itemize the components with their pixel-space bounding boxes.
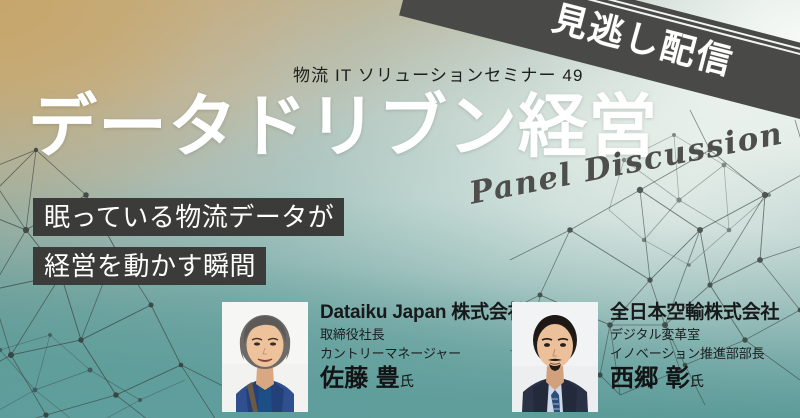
speaker-info-2: 全日本空輸株式会社 デジタル変革室 イノベーション推進部部長 西郷 彰氏 (610, 302, 779, 391)
speaker-company: Dataiku Japan 株式会社 (320, 303, 527, 324)
speaker-name-row: 西郷 彰氏 (610, 366, 779, 391)
speaker-name: 西郷 彰 (610, 365, 690, 392)
speaker-info-1: Dataiku Japan 株式会社 取締役社長 カントリーマネージャー 佐藤 … (320, 302, 527, 391)
speaker-name-suffix: 氏 (400, 373, 414, 389)
speaker-card-1: Dataiku Japan 株式会社 取締役社長 カントリーマネージャー 佐藤 … (222, 302, 527, 412)
speaker-portrait-saigo (512, 302, 598, 412)
speaker-role-line-1: 取締役社長 (320, 327, 527, 343)
speaker-company: 全日本空輸株式会社 (610, 303, 779, 324)
page-title: データドリブン経営 (28, 92, 658, 161)
speaker-portrait-sato (222, 302, 308, 412)
speaker-role-line-2: イノベーション推進部部長 (610, 346, 779, 362)
speaker-name: 佐藤 豊 (320, 365, 400, 392)
speaker-card-2: 全日本空輸株式会社 デジタル変革室 イノベーション推進部部長 西郷 彰氏 (512, 302, 779, 412)
webinar-banner: 見逃し配信 物流 IT ソリューションセミナー 49 データドリブン経営 眠って… (0, 0, 800, 418)
speaker-role-line-2: カントリーマネージャー (320, 346, 527, 362)
speaker-name-row: 佐藤 豊氏 (320, 366, 527, 391)
seminar-kicker: 物流 IT ソリューションセミナー 49 (293, 61, 584, 86)
speaker-role-line-1: デジタル変革室 (610, 327, 779, 343)
subtitle-line-1: 眠っている物流データが (33, 198, 344, 236)
speaker-name-suffix: 氏 (690, 373, 704, 389)
subtitle-line-2: 経営を動かす瞬間 (33, 247, 266, 285)
